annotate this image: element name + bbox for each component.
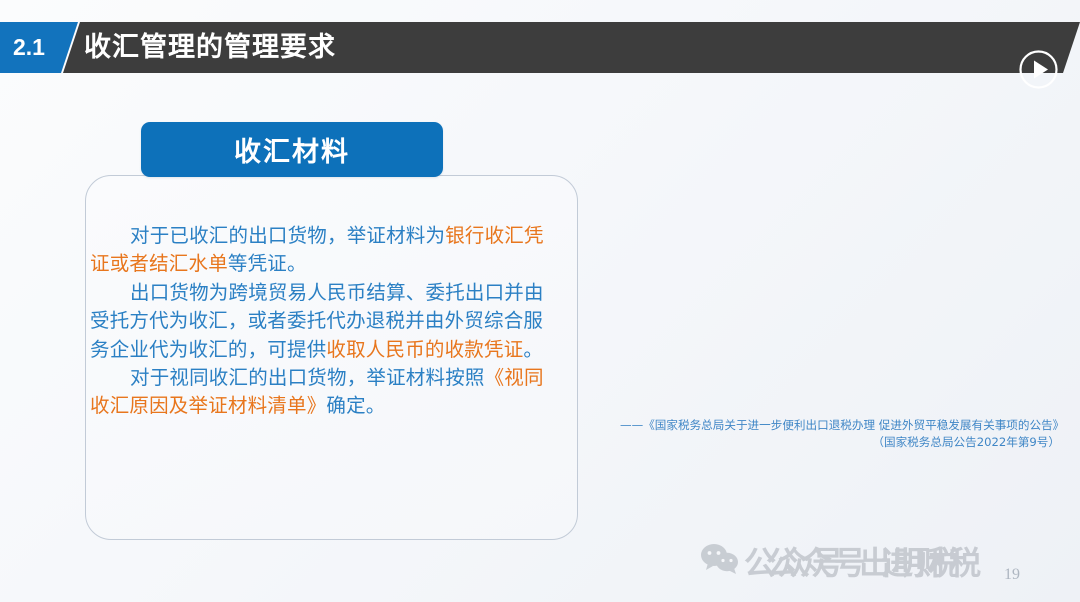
card-title-label: 收汇材料 xyxy=(234,130,350,169)
watermark-text-b: 公众号 进财税 xyxy=(766,538,983,584)
citation: ——《国家税务总局关于进一步便利出口退税办理 促进外贸平稳发展有关事项的公告》 … xyxy=(620,417,1060,451)
body-text: 确定。 xyxy=(326,394,385,417)
card-title-pill: 收汇材料 xyxy=(141,122,443,177)
body-text: 等凭证。 xyxy=(228,252,307,275)
card-paragraph: 对于视同收汇的出口货物，举证材料按照《视同收汇原因及举证材料清单》确定。 xyxy=(90,364,545,421)
card-paragraph: 出口货物为跨境贸易人民币结算、委托出口并由受托方代为收汇，或者委托代办退税并由外… xyxy=(90,279,545,364)
card-body-text: 对于已收汇的出口货物，举证材料为银行收汇凭证或者结汇水单等凭证。出口货物为跨境贸… xyxy=(90,222,545,421)
body-text: 。 xyxy=(523,338,543,361)
body-text: 对于已收汇的出口货物，举证材料为 xyxy=(130,224,445,247)
card-paragraph: 对于已收汇的出口货物，举证材料为银行收汇凭证或者结汇水单等凭证。 xyxy=(90,222,545,279)
page-number: 19 xyxy=(1004,566,1020,584)
play-circle-icon[interactable] xyxy=(1018,49,1059,90)
citation-line-2: （国家税务总局公告2022年第9号） xyxy=(620,434,1060,451)
citation-line-1: ——《国家税务总局关于进一步便利出口退税办理 促进外贸平稳发展有关事项的公告》 xyxy=(620,418,1064,432)
highlighted-text: 收取人民币的收款凭证 xyxy=(326,338,523,361)
page-title: 收汇管理的管理要求 xyxy=(84,31,336,65)
wechat-icon xyxy=(700,542,740,576)
slide-header: 2.1 收汇管理的管理要求 xyxy=(0,22,1080,73)
section-number-label: 2.1 xyxy=(13,34,45,60)
body-text: 对于视同收汇的出口货物，举证材料按照 xyxy=(130,366,485,389)
watermark: 公众号 出明税 公众号 进财税 xyxy=(700,528,1080,588)
